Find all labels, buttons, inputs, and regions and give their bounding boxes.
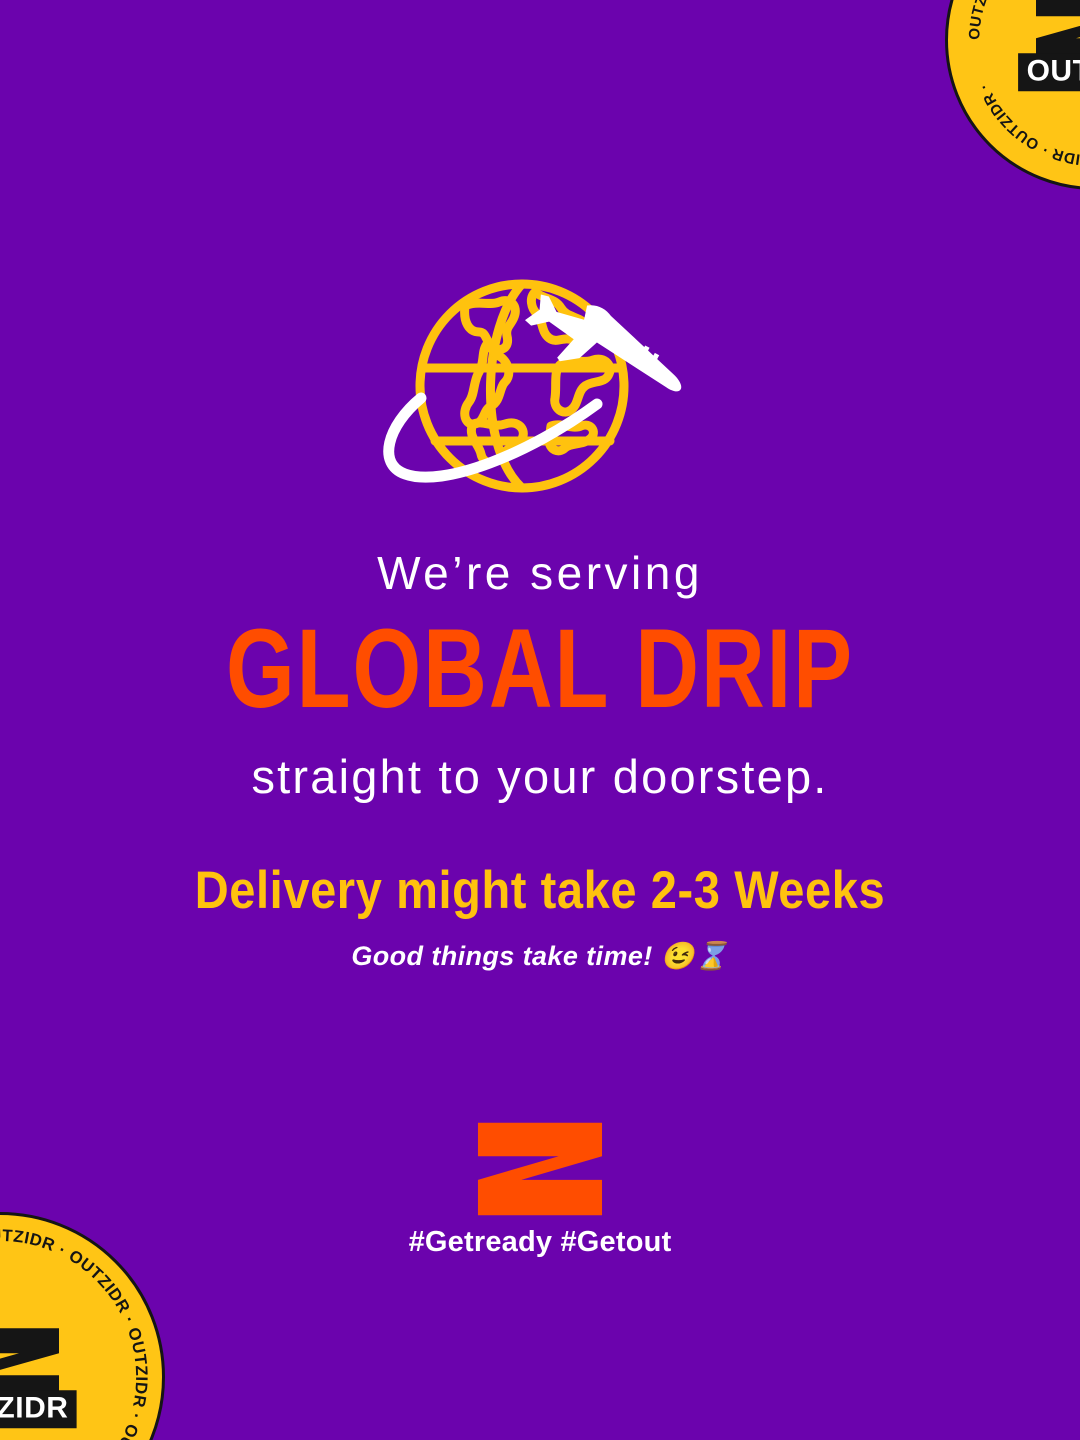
outzidr-z-logo-icon <box>476 1120 604 1218</box>
delivery-notice-text: Delivery might take 2-3 Weeks <box>0 861 1080 919</box>
airplane-icon <box>516 279 697 418</box>
page-title: GLOBAL DRIP <box>22 613 1059 725</box>
delivery-caption-text: Good things take time! 😉⌛ <box>0 942 1080 972</box>
hashtags-text: #Getready #Getout <box>409 1226 672 1259</box>
copy-block: We’re serving GLOBAL DRIP straight to yo… <box>0 548 1080 972</box>
badge-wordmark-top-right: OUTZIDR <box>1019 53 1080 91</box>
badge-wordmark-bottom-left: OUTZIDR <box>0 1390 76 1428</box>
hero-illustration <box>0 276 1080 506</box>
footer-block: #Getready #Getout <box>0 1120 1080 1259</box>
subhead-text: straight to your doorstep. <box>0 751 1080 803</box>
eyebrow-text: We’re serving <box>0 548 1080 599</box>
badge-core-bottom-left: OUTZIDR <box>0 1326 113 1428</box>
poster-canvas: OUTZIDR · OUTZIDR · OUTZIDR · OUTZIDR · … <box>0 0 1080 1440</box>
badge-core-top-right: OUTZIDR <box>992 0 1080 91</box>
globe-airplane-icon <box>365 276 715 506</box>
badge-top-right: OUTZIDR · OUTZIDR · OUTZIDR · OUTZIDR · … <box>945 0 1080 190</box>
